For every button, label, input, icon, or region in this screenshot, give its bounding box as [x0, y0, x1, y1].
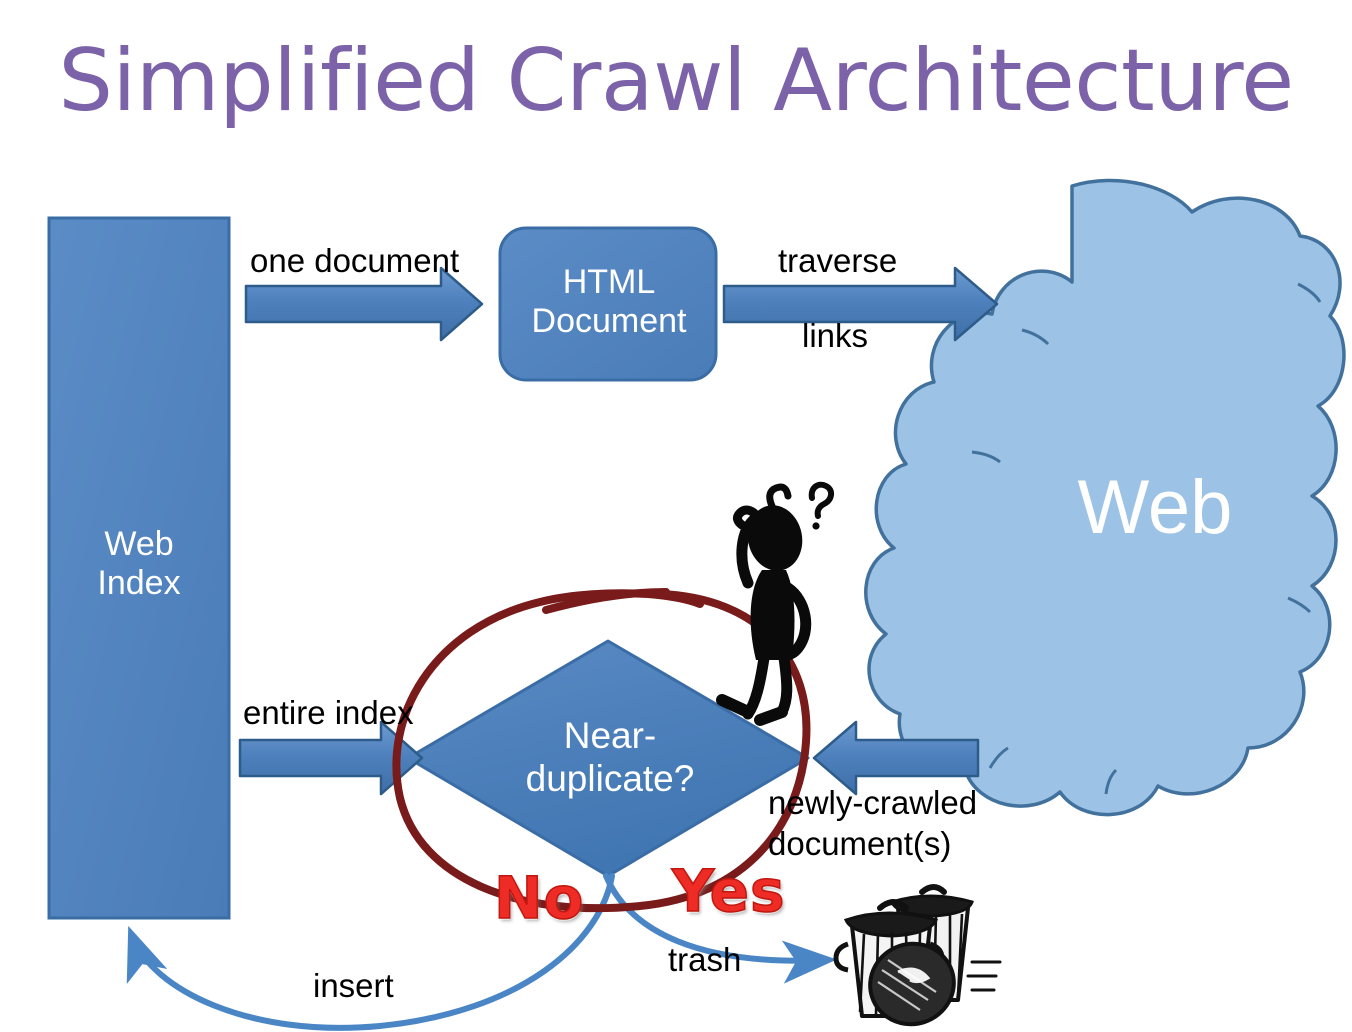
thinking-person-icon — [722, 485, 831, 720]
edge-label-newly-crawled: newly-crawled document(s) — [768, 782, 977, 865]
newly-crawled-line-1: newly-crawled — [768, 782, 977, 823]
trash-can-icon — [836, 887, 1000, 1032]
edge-label-entire-index: entire index — [243, 695, 414, 732]
decision-label-yes: Yes — [672, 862, 786, 920]
node-label-near-duplicate: Near- duplicate? — [440, 715, 780, 801]
slide-canvas: Simplified Crawl Architecture — [0, 0, 1352, 1032]
edge-label-traverse: traverse — [778, 243, 897, 280]
near-duplicate-line-1: Near- — [440, 715, 780, 758]
node-label-web-index: Web Index — [50, 525, 228, 604]
question-mark-icon — [812, 485, 831, 530]
near-duplicate-line-2: duplicate? — [440, 758, 780, 801]
edge-label-links: links — [802, 318, 868, 355]
decision-label-no: No — [494, 869, 584, 927]
edge-label-trash: trash — [668, 942, 741, 979]
edge-label-insert: insert — [313, 968, 394, 1005]
node-label-web-cloud: Web — [1010, 470, 1300, 546]
web-index-line-1: Web — [50, 525, 228, 564]
node-label-html-document: HTML Document — [500, 263, 718, 342]
web-index-line-2: Index — [50, 564, 228, 603]
html-document-line-1: HTML — [500, 263, 718, 302]
html-document-line-2: Document — [500, 302, 718, 341]
newly-crawled-line-2: document(s) — [768, 823, 977, 864]
edge-label-one-document: one document — [250, 243, 459, 280]
